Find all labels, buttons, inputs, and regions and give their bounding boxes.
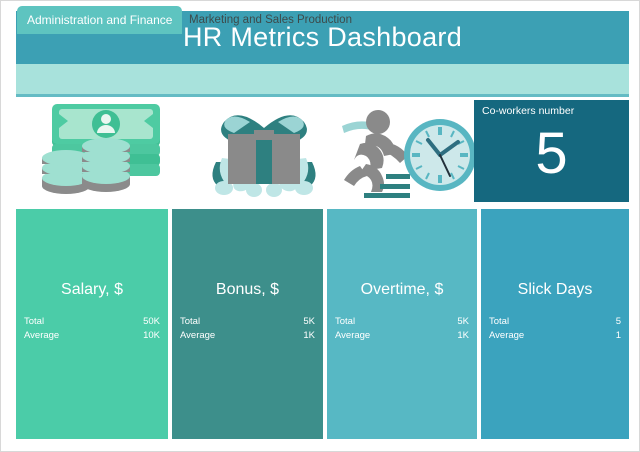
stat-row-average: Average 1K (335, 329, 469, 343)
tab-production[interactable]: Production (297, 7, 352, 33)
stat-label: Total (335, 315, 355, 329)
stat-row-total: Total 50K (24, 315, 160, 329)
stat-row-total: Total 5K (335, 315, 469, 329)
stat-value: 1K (303, 329, 315, 343)
stat-row-average: Average 1K (180, 329, 315, 343)
metric-cards: Salary, $ Total 50K Average 10K Bonus, $… (16, 209, 629, 439)
metric-card-bonus[interactable]: Bonus, $ Total 5K Average 1K (172, 209, 323, 439)
money-icon (26, 100, 186, 202)
card-title: Overtime, $ (327, 281, 477, 299)
card-title: Salary, $ (16, 281, 168, 299)
stat-label: Average (489, 329, 524, 343)
tab-administration-and-finance[interactable]: Administration and Finance (17, 6, 182, 34)
metric-card-slick-days[interactable]: Slick Days Total 5 Average 1 (481, 209, 629, 439)
stat-row-total: Total 5K (180, 315, 315, 329)
icon-row: Co-workers number 5 (16, 100, 629, 202)
tab-underline (16, 94, 629, 97)
card-stats: Total 5 Average 1 (489, 315, 621, 343)
stat-value: 5K (457, 315, 469, 329)
stat-row-average: Average 1 (489, 329, 621, 343)
tab-strip (16, 64, 629, 96)
stat-value: 1 (616, 329, 621, 343)
stat-value: 10K (143, 329, 160, 343)
stat-label: Average (180, 329, 215, 343)
coworkers-number-panel: Co-workers number 5 (474, 100, 629, 202)
stat-row-average: Average 10K (24, 329, 160, 343)
card-title: Slick Days (481, 281, 629, 299)
tab-marketing-and-sales[interactable]: Marketing and Sales (189, 7, 294, 33)
metric-card-overtime[interactable]: Overtime, $ Total 5K Average 1K (327, 209, 477, 439)
gift-box-icon (194, 100, 334, 202)
stat-value: 1K (457, 329, 469, 343)
stat-label: Average (335, 329, 370, 343)
dashboard-root: HR Metrics Dashboard Administration and … (0, 0, 640, 452)
running-person-clock-icon (336, 100, 481, 202)
metric-card-salary[interactable]: Salary, $ Total 50K Average 10K (16, 209, 168, 439)
stat-label: Total (24, 315, 44, 329)
coworkers-value: 5 (474, 114, 629, 194)
card-stats: Total 5K Average 1K (180, 315, 315, 343)
stat-value: 5 (616, 315, 621, 329)
stat-row-total: Total 5 (489, 315, 621, 329)
card-title: Bonus, $ (172, 281, 323, 299)
stat-value: 5K (303, 315, 315, 329)
stat-label: Average (24, 329, 59, 343)
card-stats: Total 5K Average 1K (335, 315, 469, 343)
stat-label: Total (180, 315, 200, 329)
card-stats: Total 50K Average 10K (24, 315, 160, 343)
stat-value: 50K (143, 315, 160, 329)
stat-label: Total (489, 315, 509, 329)
